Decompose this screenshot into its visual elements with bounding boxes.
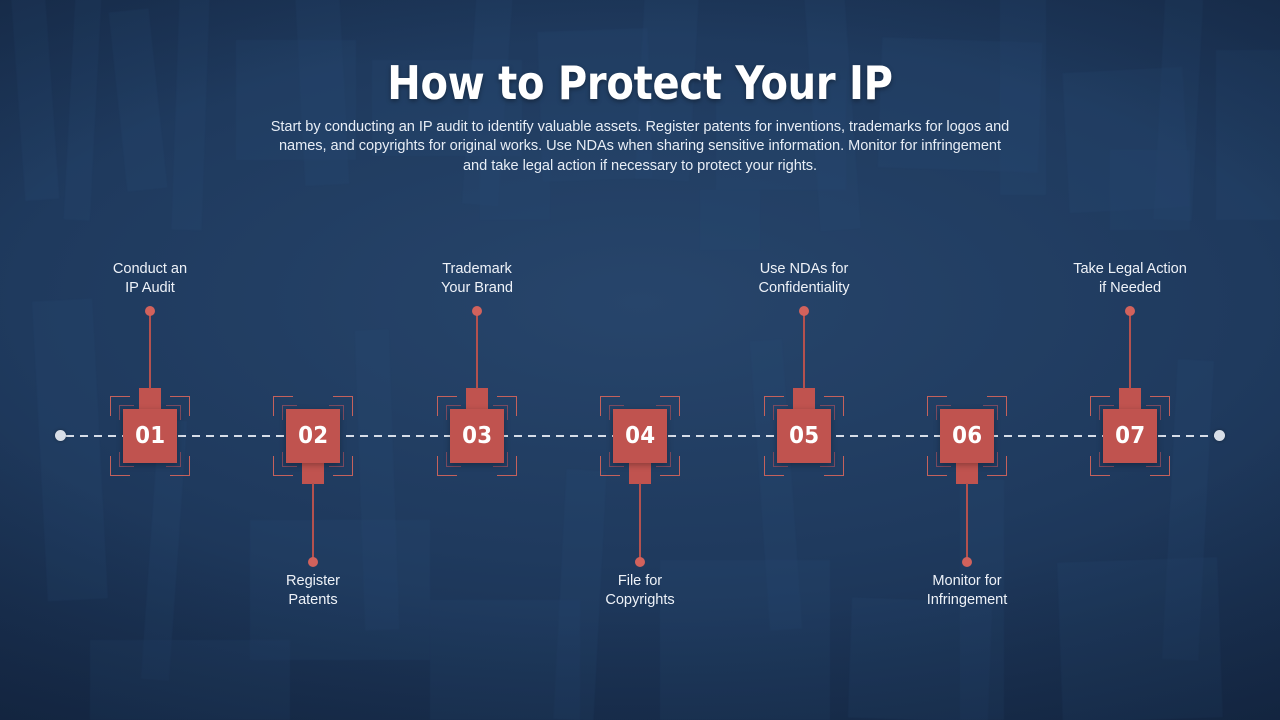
step-connector-dot-06 — [962, 557, 972, 567]
step-number-box-05[interactable]: 05 — [777, 409, 831, 463]
axis-endpoint-left-dot — [55, 430, 66, 441]
step-connector-dot-04 — [635, 557, 645, 567]
step-label-07: Take Legal Actionif Needed — [1010, 260, 1250, 298]
step-label-05: Use NDAs forConfidentiality — [684, 260, 924, 298]
step-number-box-03[interactable]: 03 — [450, 409, 504, 463]
step-label-line1: Take Legal Action — [1010, 260, 1250, 279]
step-connector-stem-07 — [1129, 311, 1131, 389]
step-label-line1: Use NDAs for — [684, 260, 924, 279]
step-connector-stem-04 — [639, 483, 641, 561]
axis-endpoint-right-dot — [1214, 430, 1225, 441]
step-label-line2: if Needed — [1010, 279, 1250, 298]
step-label-line2: Patents — [193, 591, 433, 610]
step-connector-tab-01 — [139, 388, 161, 410]
step-number-label: 07 — [1115, 423, 1145, 449]
step-label-03: TrademarkYour Brand — [357, 260, 597, 298]
step-connector-stem-01 — [149, 311, 151, 389]
step-number-label: 06 — [952, 423, 982, 449]
step-label-line1: Conduct an — [30, 260, 270, 279]
step-label-02: RegisterPatents — [193, 572, 433, 610]
step-label-line1: Monitor for — [847, 572, 1087, 591]
step-connector-dot-07 — [1125, 306, 1135, 316]
step-connector-stem-05 — [803, 311, 805, 389]
step-connector-stem-02 — [312, 483, 314, 561]
step-label-line1: File for — [520, 572, 760, 591]
step-connector-tab-05 — [793, 388, 815, 410]
step-label-line1: Trademark — [357, 260, 597, 279]
step-connector-dot-05 — [799, 306, 809, 316]
timeline: 01Conduct anIP Audit02RegisterPatents03T… — [0, 0, 1280, 720]
step-label-line2: Confidentiality — [684, 279, 924, 298]
step-number-box-07[interactable]: 07 — [1103, 409, 1157, 463]
step-number-box-06[interactable]: 06 — [940, 409, 994, 463]
step-connector-tab-02 — [302, 462, 324, 484]
step-connector-dot-01 — [145, 306, 155, 316]
step-connector-tab-06 — [956, 462, 978, 484]
step-label-04: File forCopyrights — [520, 572, 760, 610]
step-label-line2: Your Brand — [357, 279, 597, 298]
step-number-box-02[interactable]: 02 — [286, 409, 340, 463]
step-label-line1: Register — [193, 572, 433, 591]
step-connector-dot-02 — [308, 557, 318, 567]
step-number-label: 02 — [298, 423, 328, 449]
step-number-label: 03 — [462, 423, 492, 449]
step-number-box-04[interactable]: 04 — [613, 409, 667, 463]
step-connector-dot-03 — [472, 306, 482, 316]
step-connector-tab-03 — [466, 388, 488, 410]
step-label-line2: Infringement — [847, 591, 1087, 610]
step-number-label: 04 — [625, 423, 655, 449]
step-number-label: 01 — [135, 423, 165, 449]
step-number-label: 05 — [789, 423, 819, 449]
step-label-01: Conduct anIP Audit — [30, 260, 270, 298]
step-connector-stem-03 — [476, 311, 478, 389]
step-number-box-01[interactable]: 01 — [123, 409, 177, 463]
step-connector-tab-07 — [1119, 388, 1141, 410]
step-label-line2: Copyrights — [520, 591, 760, 610]
step-connector-stem-06 — [966, 483, 968, 561]
step-connector-tab-04 — [629, 462, 651, 484]
step-label-line2: IP Audit — [30, 279, 270, 298]
step-label-06: Monitor forInfringement — [847, 572, 1087, 610]
